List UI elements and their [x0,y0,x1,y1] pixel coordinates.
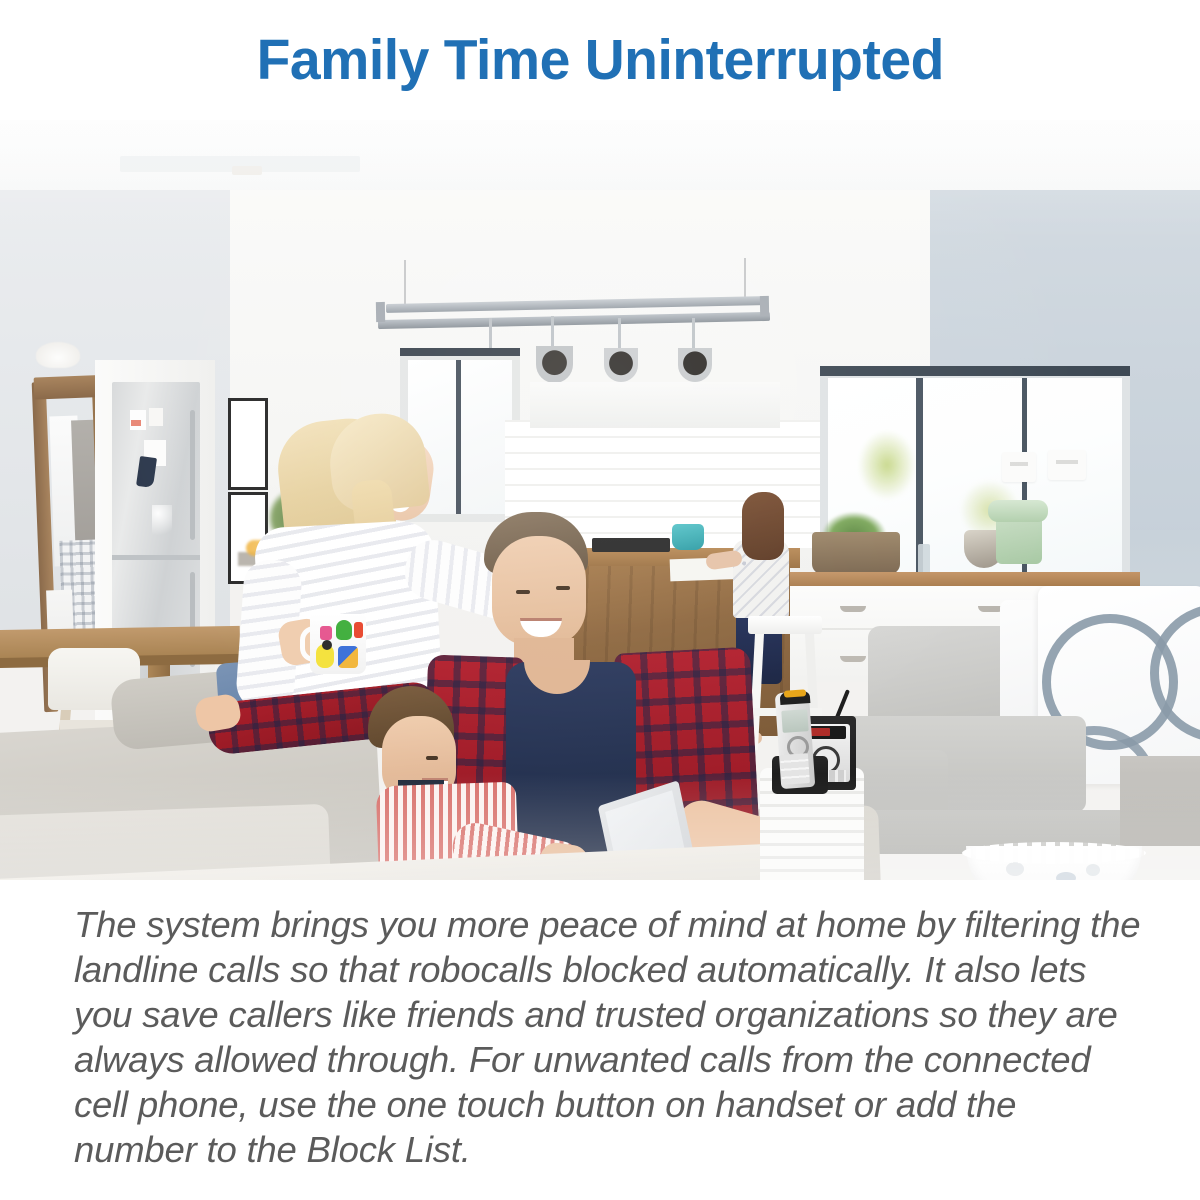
cooktop [592,538,670,552]
mug-motif-dot [322,640,332,650]
hero-image [0,120,1200,880]
extractor-hood [530,382,780,428]
wall-switch-right [1048,450,1086,480]
fridge-reflection [152,505,172,547]
wall-sconce [36,342,80,368]
boy-eye [426,756,438,760]
mug-motif-blue [338,646,358,668]
handset-keypad [780,753,810,785]
hanging-pan-4 [678,348,712,382]
window-right-head [820,366,1130,376]
wall-switch-left-rocker [1010,462,1028,466]
pan-hook-4 [692,318,695,348]
cabinet-pull-1 [840,606,866,612]
wall-switch-right-rocker [1056,460,1078,464]
fridge-magnet-red [131,420,141,426]
bowl-openwork-rim [962,842,1146,864]
pot-rack-end-right [760,296,769,316]
man-eye-left [516,590,530,594]
fridge-door-split [112,555,200,560]
pan-hook-3 [618,318,621,348]
wall-switch-left [1002,452,1036,482]
window-middle-mullion [456,360,461,514]
fridge-handle-upper [190,410,195,540]
fridge-note-b [149,408,163,426]
counter-bottle [918,544,930,574]
handset-lcd-screen [781,709,808,733]
bar-stool-seat [748,616,822,634]
page-title: Family Time Uninterrupted [256,32,943,89]
bowl-cutout-2 [1056,872,1076,880]
girl-hair [742,492,784,560]
pan-hook-1 [489,318,492,348]
pan-hook-2 [551,316,554,346]
mug-motif-red [354,622,363,638]
wicker-basket [812,532,900,574]
bowl-cutout-3 [1086,864,1100,876]
description-section: The system brings you more peace of mind… [0,880,1200,1172]
pot-rack-end-left [376,302,385,322]
ceiling-light [232,166,262,175]
mug-motif-green [336,620,352,640]
bowl-cutout-1 [1006,862,1024,876]
teal-kettle [672,524,704,550]
mug-motif-pink [320,626,332,640]
ceiling [0,120,1200,190]
description-paragraph: The system brings you more peace of mind… [74,902,1144,1172]
headline-bar: Family Time Uninterrupted [0,0,1200,120]
man-eye-right [556,586,570,590]
window-middle-head [400,348,520,356]
pot-rack-wire-left [404,260,406,304]
cabinet-pull-4 [840,656,866,662]
picture-frame-upper [228,398,268,490]
sofa-right-cover [1120,756,1200,846]
window-foliage-left [858,430,916,500]
hanging-pan-3 [604,348,638,382]
hanging-pan-2 [536,346,573,383]
stand-mixer-head [988,500,1048,522]
